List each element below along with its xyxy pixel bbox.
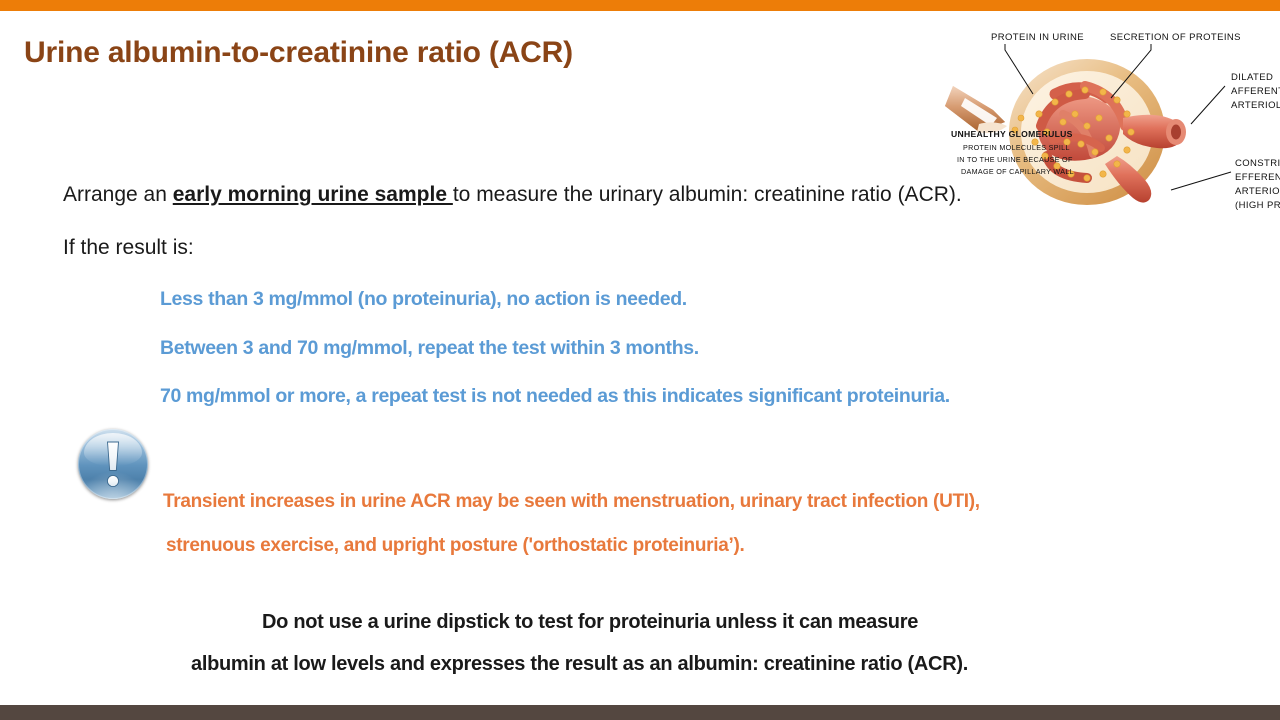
- label-protein-in-urine: PROTEIN IN URINE: [991, 32, 1084, 43]
- label-dilated-1: DILATED: [1231, 72, 1273, 83]
- label-constricted-3: ARTERIOLE: [1235, 186, 1280, 197]
- unhealthy-glomerulus-diagram: PROTEIN IN URINE SECRETION OF PROTEINS D…: [935, 14, 1280, 214]
- label-dilated-2: AFFERENT: [1231, 86, 1280, 97]
- label-secretion-of-proteins: SECRETION OF PROTEINS: [1110, 32, 1241, 43]
- glomerulus-illustration: PROTEIN IN URINE SECRETION OF PROTEINS D…: [935, 14, 1280, 214]
- label-constricted-4: (HIGH PRESSURE): [1235, 200, 1280, 211]
- caption-line-2: IN TO THE URINE BECAUSE OF: [957, 155, 1073, 164]
- top-accent-bar: [0, 0, 1280, 11]
- footer-statement-line-2: albumin at low levels and expresses the …: [191, 653, 968, 676]
- footer-statement-line-1: Do not use a urine dipstick to test for …: [262, 611, 918, 634]
- intro-emphasis: early morning urine sample: [173, 183, 453, 206]
- slide-canvas: Urine albumin-to-creatinine ratio (ACR) …: [0, 0, 1280, 720]
- intro-paragraph: Arrange an early morning urine sample to…: [63, 183, 962, 207]
- exclamation-mark-glyph: [78, 429, 148, 499]
- warning-line-1: Transient increases in urine ACR may be …: [163, 491, 980, 513]
- exclamation-icon: [78, 429, 148, 499]
- intro-text-after: to measure the urinary albumin: creatini…: [453, 183, 962, 206]
- result-item-mid: Between 3 and 70 mg/mmol, repeat the tes…: [160, 337, 699, 360]
- bottom-accent-bar: [0, 705, 1280, 720]
- result-item-high: 70 mg/mmol or more, a repeat test is not…: [160, 385, 950, 408]
- result-item-low: Less than 3 mg/mmol (no proteinuria), no…: [160, 288, 687, 311]
- caption-line-1: PROTEIN MOLECULES SPILL: [963, 143, 1070, 152]
- page-title: Urine albumin-to-creatinine ratio (ACR): [24, 36, 924, 70]
- caption-line-3: DAMAGE OF CAPILLARY WALL: [961, 167, 1074, 176]
- label-dilated-3: ARTERIOLE: [1231, 100, 1280, 111]
- caption-title: UNHEALTHY GLOMERULUS: [951, 129, 1073, 139]
- label-constricted-1: CONSTRICTED: [1235, 158, 1280, 169]
- intro-text-before: Arrange an: [63, 183, 173, 206]
- warning-line-2: strenuous exercise, and upright posture …: [166, 535, 744, 557]
- result-prompt: If the result is:: [63, 236, 194, 260]
- label-constricted-2: EFFERENT: [1235, 172, 1280, 183]
